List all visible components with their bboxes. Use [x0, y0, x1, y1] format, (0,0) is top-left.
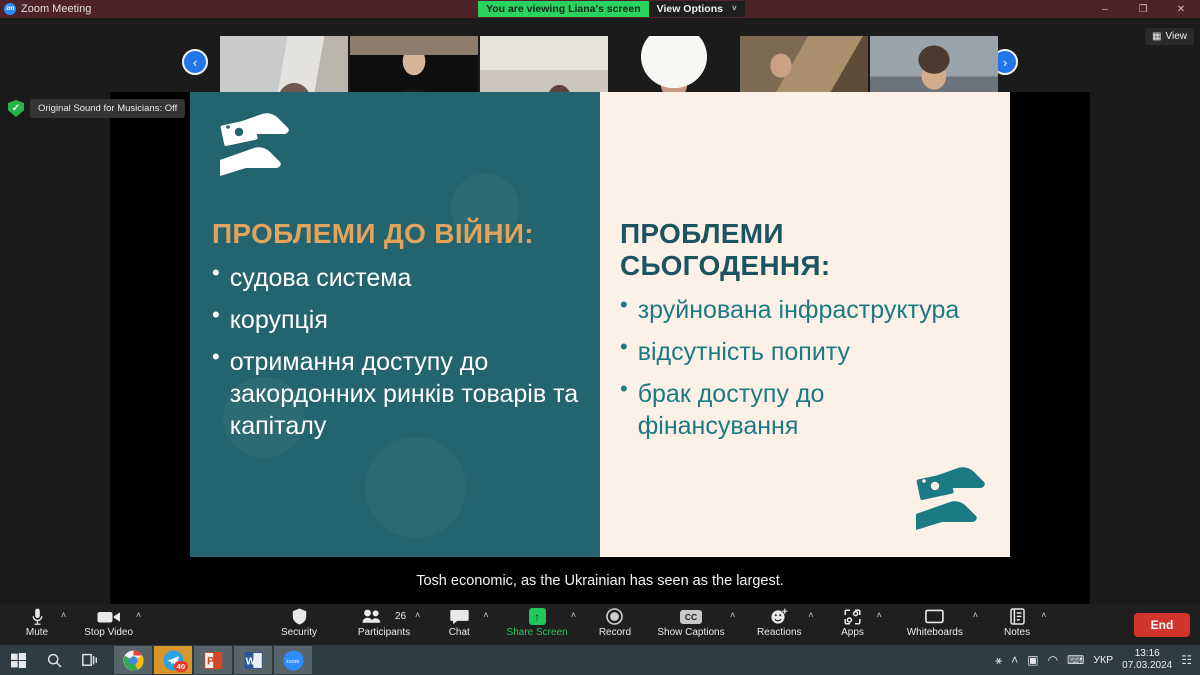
- view-options-label: View Options: [657, 3, 723, 15]
- taskbar-system-buttons: [0, 645, 108, 675]
- show-captions-label: Show Captions: [657, 627, 724, 638]
- screen-share-banner: You are viewing Liana's screen View Opti…: [478, 1, 745, 17]
- slide-bullet-item: • отримання доступу до закордонних ринкі…: [212, 346, 580, 442]
- people-share-icon[interactable]: ⚹: [995, 653, 1002, 668]
- mute-button[interactable]: Mute: [16, 604, 58, 638]
- meeting-toolbar: Mute ˄ Stop Video ˄ Security: [0, 604, 1200, 645]
- slide-heading-right: ПРОБЛЕМИ СЬОГОДЕННЯ:: [620, 218, 992, 282]
- view-label: View: [1166, 31, 1188, 42]
- taskbar-app-powerpoint[interactable]: P: [194, 646, 232, 674]
- apps-icon: [844, 607, 861, 626]
- slide-bullet-item: • судова система: [212, 262, 580, 294]
- show-captions-button[interactable]: CC Show Captions: [655, 604, 727, 638]
- live-caption-bar: Tosh economic, as the Ukrainian has seen…: [110, 557, 1090, 604]
- notifications-icon[interactable]: ☷: [1181, 653, 1192, 667]
- slide-bullets-left: • судова система • корупція • отримання …: [212, 262, 580, 442]
- stop-video-label: Stop Video: [84, 627, 133, 638]
- reactions-label: Reactions: [757, 627, 801, 638]
- system-tray: ⚹ ˄ ▣ ◠ ⌨ УКР 13:16 07.03.2024 ☷: [995, 645, 1200, 675]
- share-screen-button[interactable]: ↑ Share Screen: [507, 604, 568, 638]
- notes-label: Notes: [1004, 627, 1030, 638]
- language-indicator[interactable]: УКР: [1093, 654, 1113, 666]
- chevron-left-icon: ‹: [193, 55, 197, 70]
- svg-text:W: W: [245, 655, 255, 667]
- cc-badge-label: CC: [680, 610, 702, 624]
- bullet-icon: •: [620, 378, 628, 442]
- close-button[interactable]: ✕: [1162, 0, 1200, 18]
- notes-caret[interactable]: ˄: [1038, 604, 1046, 638]
- end-meeting-button[interactable]: End: [1134, 613, 1190, 637]
- bullet-icon: •: [620, 294, 628, 326]
- video-camera-icon: [97, 607, 121, 626]
- chevron-down-icon: ˅: [732, 3, 737, 15]
- taskbar-app-telegram[interactable]: 40: [154, 646, 192, 674]
- whiteboards-label: Whiteboards: [907, 627, 963, 638]
- telegram-unread-badge: 40: [174, 661, 188, 672]
- video-options-caret[interactable]: ˄: [133, 604, 141, 638]
- svg-text:zoom: zoom: [286, 659, 300, 665]
- presentation-slide: ПРОБЛЕМИ ДО ВІЙНИ: • судова система • ко…: [190, 92, 1010, 557]
- reactions-button[interactable]: Reactions: [753, 604, 805, 638]
- slide-bullet-text: судова система: [230, 262, 412, 294]
- taskbar-app-buttons: 40 P W zoom: [114, 646, 312, 674]
- slide-bullet-item: • зруйнована інфраструктура: [620, 294, 992, 326]
- share-arrow-icon: ↑: [529, 608, 546, 625]
- tray-expand-chevron-icon[interactable]: ˄: [1011, 653, 1018, 667]
- clock-date: 07.03.2024: [1122, 660, 1172, 672]
- keyboard-icon[interactable]: ⌨: [1067, 653, 1084, 667]
- viewing-screen-badge: You are viewing Liana's screen: [478, 1, 649, 17]
- network-icon[interactable]: ▣: [1027, 653, 1038, 667]
- window-controls: – ❐ ✕: [1086, 0, 1200, 18]
- minimize-button[interactable]: –: [1086, 0, 1124, 18]
- apps-caret[interactable]: ˄: [874, 604, 882, 638]
- grid-view-icon: ▦: [1152, 31, 1161, 42]
- search-button[interactable]: [36, 645, 72, 675]
- slide-bullets-right: • зруйнована інфраструктура • відсутніст…: [620, 294, 992, 442]
- chat-caret[interactable]: ˄: [480, 604, 488, 638]
- record-label: Record: [599, 627, 631, 638]
- svg-text:P: P: [207, 655, 214, 667]
- shared-screen-stage[interactable]: ПРОБЛЕМИ ДО ВІЙНИ: • судова система • ко…: [110, 92, 1090, 604]
- shield-check-icon: [8, 100, 24, 117]
- chat-button[interactable]: Chat: [438, 604, 480, 638]
- mute-label: Mute: [26, 627, 48, 638]
- chevron-right-icon: ›: [1003, 55, 1007, 70]
- whiteboards-caret[interactable]: ˄: [970, 604, 978, 638]
- shield-icon: [292, 607, 307, 626]
- slide-heading-left: ПРОБЛЕМИ ДО ВІЙНИ:: [212, 218, 580, 250]
- apps-label: Apps: [841, 627, 864, 638]
- participants-caret[interactable]: ˄: [412, 604, 420, 638]
- maximize-button[interactable]: ❐: [1124, 0, 1162, 18]
- slide-panel-today: ПРОБЛЕМИ СЬОГОДЕННЯ: • зруйнована інфрас…: [600, 92, 1010, 557]
- task-view-button[interactable]: [72, 645, 108, 675]
- participants-count: 26: [392, 611, 406, 622]
- clock[interactable]: 13:16 07.03.2024: [1122, 648, 1172, 672]
- captions-caret[interactable]: ˄: [727, 604, 735, 638]
- slide-panel-before-war: ПРОБЛЕМИ ДО ВІЙНИ: • судова система • ко…: [190, 92, 600, 557]
- share-screen-icon: ↑: [529, 607, 546, 626]
- original-sound-indicator[interactable]: Original Sound for Musicians: Off: [8, 99, 185, 118]
- bullet-icon: •: [212, 262, 220, 294]
- toolbar-mid-group: 26 Participants ˄ Chat ˄ ↑ Share Screen …: [356, 604, 636, 638]
- share-caret[interactable]: ˄: [568, 604, 576, 638]
- record-button[interactable]: Record: [594, 604, 636, 638]
- taskbar-app-chrome[interactable]: [114, 646, 152, 674]
- windows-taskbar: 40 P W zoom: [0, 645, 1200, 675]
- bullet-icon: •: [212, 346, 220, 442]
- notes-icon: [1010, 607, 1025, 626]
- participants-button[interactable]: 26 Participants: [356, 604, 412, 638]
- participant-filmstrip: ‹ › ✗ Якубовська Тетяна ✗: [0, 18, 1200, 92]
- wifi-icon[interactable]: ◠: [1048, 653, 1058, 667]
- slide-bullet-item: • брак доступу до фінансування: [620, 378, 992, 442]
- record-icon: [606, 607, 623, 626]
- toolbar-left-group: Mute ˄ Stop Video ˄: [16, 604, 141, 638]
- caption-text: Tosh economic, as the Ukrainian has seen…: [416, 573, 784, 589]
- taskbar-app-word[interactable]: W: [234, 646, 272, 674]
- zoom-meeting-window: zm Zoom Meeting You are viewing Liana's …: [0, 0, 1200, 675]
- participants-label: Participants: [358, 627, 410, 638]
- slide-bullet-item: • корупція: [212, 304, 580, 336]
- slide-bullet-text: зруйнована інфраструктура: [638, 294, 960, 326]
- view-options-button[interactable]: View Options ˅: [649, 1, 745, 17]
- bullet-icon: •: [620, 336, 628, 368]
- chat-bubble-icon: [450, 607, 469, 626]
- closed-captions-icon: CC: [680, 607, 702, 626]
- notes-button[interactable]: Notes: [996, 604, 1038, 638]
- whiteboard-icon: [925, 607, 944, 626]
- slide-bullet-text: отримання доступу до закордонних ринків …: [230, 346, 580, 442]
- view-layout-button[interactable]: ▦ View: [1145, 28, 1194, 45]
- slide-bullet-item: • відсутність попиту: [620, 336, 992, 368]
- zoom-logo-icon: zm: [4, 3, 16, 15]
- bullet-icon: •: [212, 304, 220, 336]
- whiteboards-button[interactable]: Whiteboards: [900, 604, 970, 638]
- taskbar-app-zoom[interactable]: zoom: [274, 646, 312, 674]
- security-label: Security: [281, 627, 317, 638]
- participants-icon: 26: [362, 607, 406, 626]
- toolbar-security-group: Security: [278, 604, 320, 638]
- money-in-hands-icon: [910, 462, 988, 539]
- chat-label: Chat: [449, 627, 470, 638]
- slide-bullet-text: корупція: [230, 304, 328, 336]
- security-button[interactable]: Security: [278, 604, 320, 638]
- reactions-smiley-icon: [770, 607, 789, 626]
- start-button[interactable]: [0, 645, 36, 675]
- slide-bullet-text: відсутність попиту: [638, 336, 850, 368]
- microphone-icon: [31, 607, 44, 626]
- window-title: Zoom Meeting: [21, 3, 91, 15]
- toolbar-right-group: CC Show Captions ˄ Reactions ˄: [655, 604, 1046, 638]
- clock-time: 13:16: [1135, 648, 1160, 660]
- slide-bullet-text: брак доступу до фінансування: [638, 378, 992, 442]
- apps-button[interactable]: Apps: [832, 604, 874, 638]
- original-sound-label: Original Sound for Musicians: Off: [30, 99, 185, 118]
- money-in-hands-icon: [214, 108, 292, 185]
- share-screen-label: Share Screen: [507, 627, 568, 638]
- audio-options-caret[interactable]: ˄: [58, 604, 66, 638]
- reactions-caret[interactable]: ˄: [805, 604, 813, 638]
- window-title-bar: zm Zoom Meeting You are viewing Liana's …: [0, 0, 1200, 18]
- stop-video-button[interactable]: Stop Video: [84, 604, 133, 638]
- filmstrip-prev-button[interactable]: ‹: [182, 49, 208, 75]
